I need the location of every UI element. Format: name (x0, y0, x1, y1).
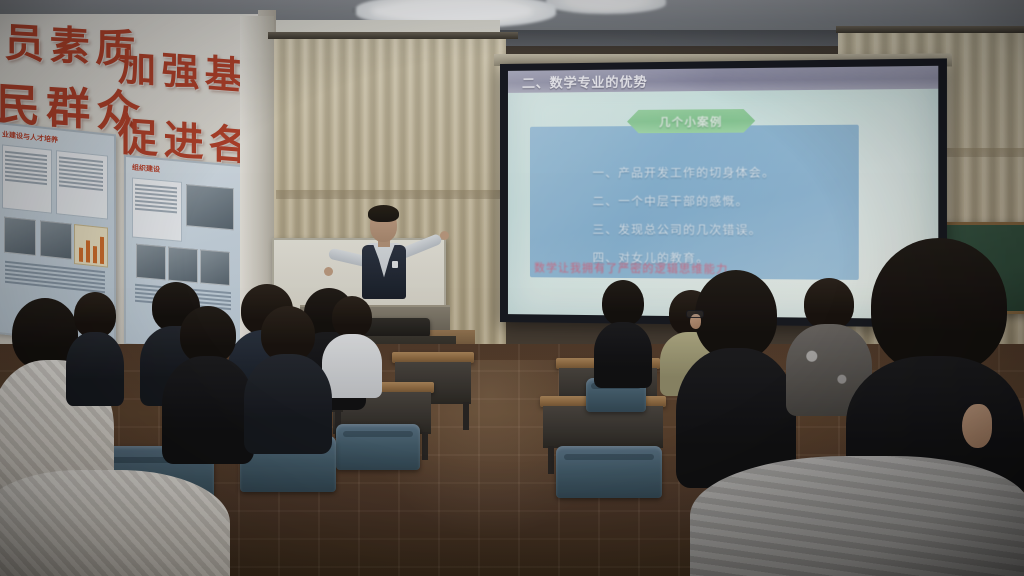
audience-member-foreground (690, 456, 1024, 576)
audience-member (66, 292, 124, 400)
student-chair (336, 424, 420, 470)
person-head (871, 238, 1007, 374)
person-torso (594, 322, 652, 388)
chair-backrest (336, 424, 420, 470)
slide-banner: 几个小案例 (627, 109, 755, 133)
desk-panel (543, 406, 663, 448)
audience-member (594, 280, 652, 380)
slide-title: 二、数学专业的优势 (522, 71, 648, 92)
person-torso (66, 332, 124, 406)
board-photo (136, 244, 166, 281)
slide-bullet-1: 一、产品开发工作的切身体会。 (592, 164, 895, 181)
person-shoulder (0, 470, 230, 576)
person-torso (244, 354, 332, 454)
board-photo (200, 249, 230, 286)
slide-bullet-2: 二、一个中层干部的感慨。 (592, 193, 895, 210)
presenter-right-hand (440, 231, 449, 240)
board-photo (4, 217, 36, 256)
slide-title-bar: 二、数学专业的优势 (508, 66, 938, 93)
slide-banner-label: 几个小案例 (659, 113, 723, 130)
person-head (332, 296, 372, 338)
desk-leg (422, 432, 428, 460)
audience-member (244, 306, 332, 446)
desk-leg (548, 446, 554, 474)
board-photo (168, 247, 198, 284)
person-shoulder (690, 456, 1024, 576)
audience-member-foreground (846, 238, 1024, 488)
presenter-badge (392, 261, 398, 268)
audience-member-foreground (0, 470, 230, 576)
person-head (695, 270, 777, 360)
student-chair (556, 446, 662, 498)
person-head (602, 280, 644, 326)
audience-member-with-glasses (676, 270, 796, 480)
board-text-lines (5, 151, 47, 185)
person-torso (162, 356, 254, 464)
curtain-rod-right (836, 26, 1024, 33)
curtain-rod-left (268, 32, 518, 39)
audience-member (162, 306, 254, 456)
fluorescent-light-core (372, 2, 532, 20)
board-text-lines (135, 184, 177, 214)
eyeglasses-icon (686, 310, 704, 318)
classroom-photo: 员素质 加强基层组织 民群众 促进各项工作 业建设与人才培养 组织建设 (0, 0, 1024, 576)
person-ear (962, 404, 992, 448)
curtain-tie-band (276, 190, 504, 199)
slide-bullet-3: 三、发现总公司的几次错误。 (592, 221, 895, 238)
desk-leg (463, 402, 469, 430)
presenter-left-hand (324, 267, 333, 276)
board-text-lines (59, 156, 103, 191)
presenter-hair (368, 205, 399, 222)
chair-backrest (556, 446, 662, 498)
board-photo (186, 184, 234, 230)
board-photo (40, 220, 72, 259)
board-bar-chart-icon (74, 224, 108, 268)
